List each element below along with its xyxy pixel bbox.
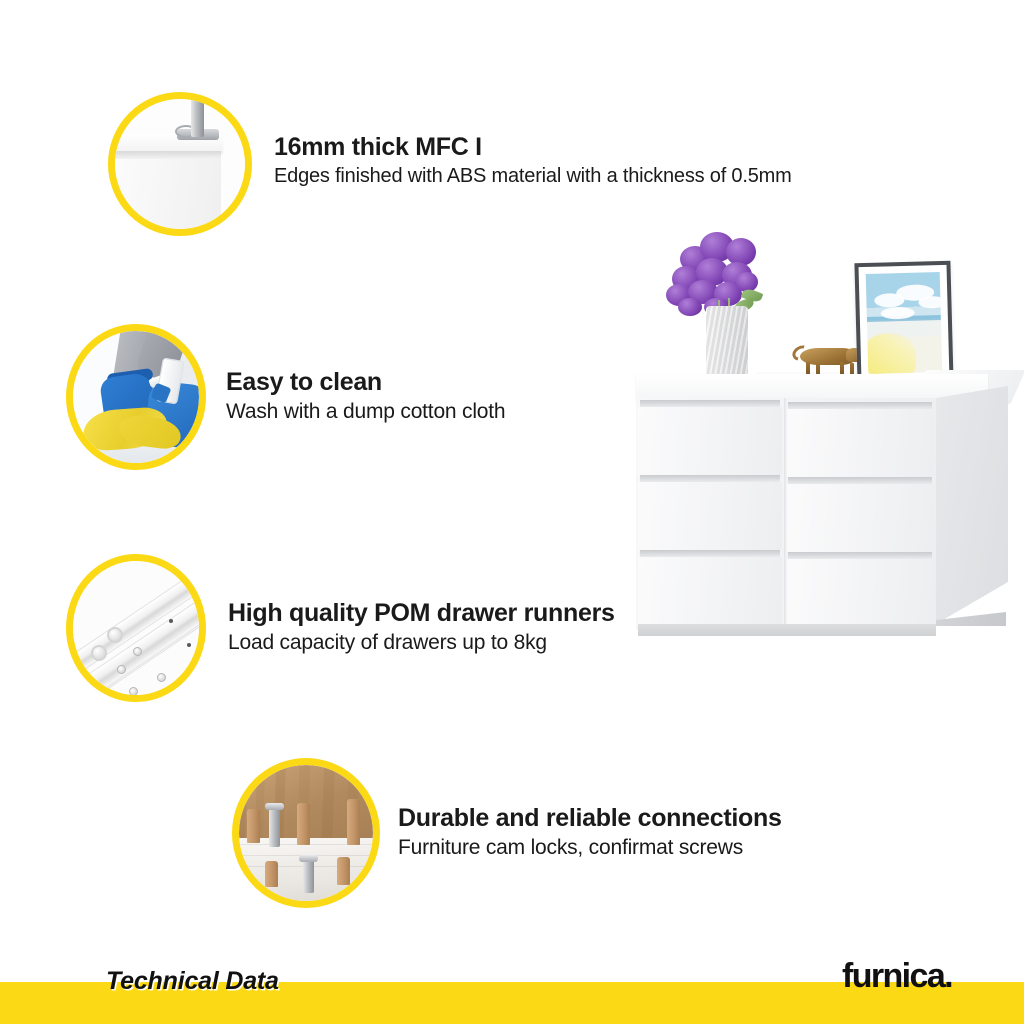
- feature-title: 16mm thick MFC I: [274, 133, 792, 161]
- drawer-face: [638, 557, 782, 624]
- feature-subtitle: Furniture cam locks, confirmat screws: [398, 835, 782, 861]
- cleaning-glove-spray-cloth-icon: [66, 324, 206, 470]
- feature-row-durable-connections: Durable and reliable connections Furnitu…: [232, 758, 782, 908]
- mfc-board-edge-caliper-icon: [108, 92, 252, 236]
- feature-text-block: Durable and reliable connections Furnitu…: [380, 804, 782, 861]
- cam-lock-dowel-screws-icon: [232, 758, 380, 908]
- feature-subtitle: Load capacity of drawers up to 8kg: [228, 630, 615, 656]
- feature-title: Durable and reliable connections: [398, 804, 782, 832]
- feature-row-easy-to-clean: Easy to clean Wash with a dump cotton cl…: [66, 324, 505, 470]
- footer-title: Technical Data: [106, 967, 279, 996]
- drawer-face: [786, 559, 934, 626]
- feature-text-block: 16mm thick MFC I Edges finished with ABS…: [252, 133, 792, 195]
- feature-subtitle: Edges finished with ABS material with a …: [274, 164, 792, 189]
- framed-beach-artwork-decor: [854, 261, 953, 385]
- drawer-face: [638, 482, 782, 550]
- drawer-face: [786, 409, 934, 477]
- vase: [706, 306, 748, 378]
- drawer-face: [786, 484, 934, 552]
- dresser-plinth: [638, 624, 936, 636]
- brand-logo-furnica: furnica.: [842, 957, 952, 996]
- feature-title: Easy to clean: [226, 368, 505, 396]
- product-image-chest-of-drawers: [618, 228, 1024, 648]
- dresser-side-panel: [936, 386, 1008, 624]
- feature-text-block: High quality POM drawer runners Load cap…: [206, 599, 615, 656]
- feature-subtitle: Wash with a dump cotton cloth: [226, 399, 505, 425]
- drawer-runner-rails-icon: [66, 554, 206, 702]
- feature-row-mfc-thickness: 16mm thick MFC I Edges finished with ABS…: [108, 92, 792, 236]
- feature-title: High quality POM drawer runners: [228, 599, 615, 627]
- feature-text-block: Easy to clean Wash with a dump cotton cl…: [206, 368, 505, 425]
- drawer-face: [638, 407, 782, 475]
- feature-row-drawer-runners: High quality POM drawer runners Load cap…: [66, 554, 615, 702]
